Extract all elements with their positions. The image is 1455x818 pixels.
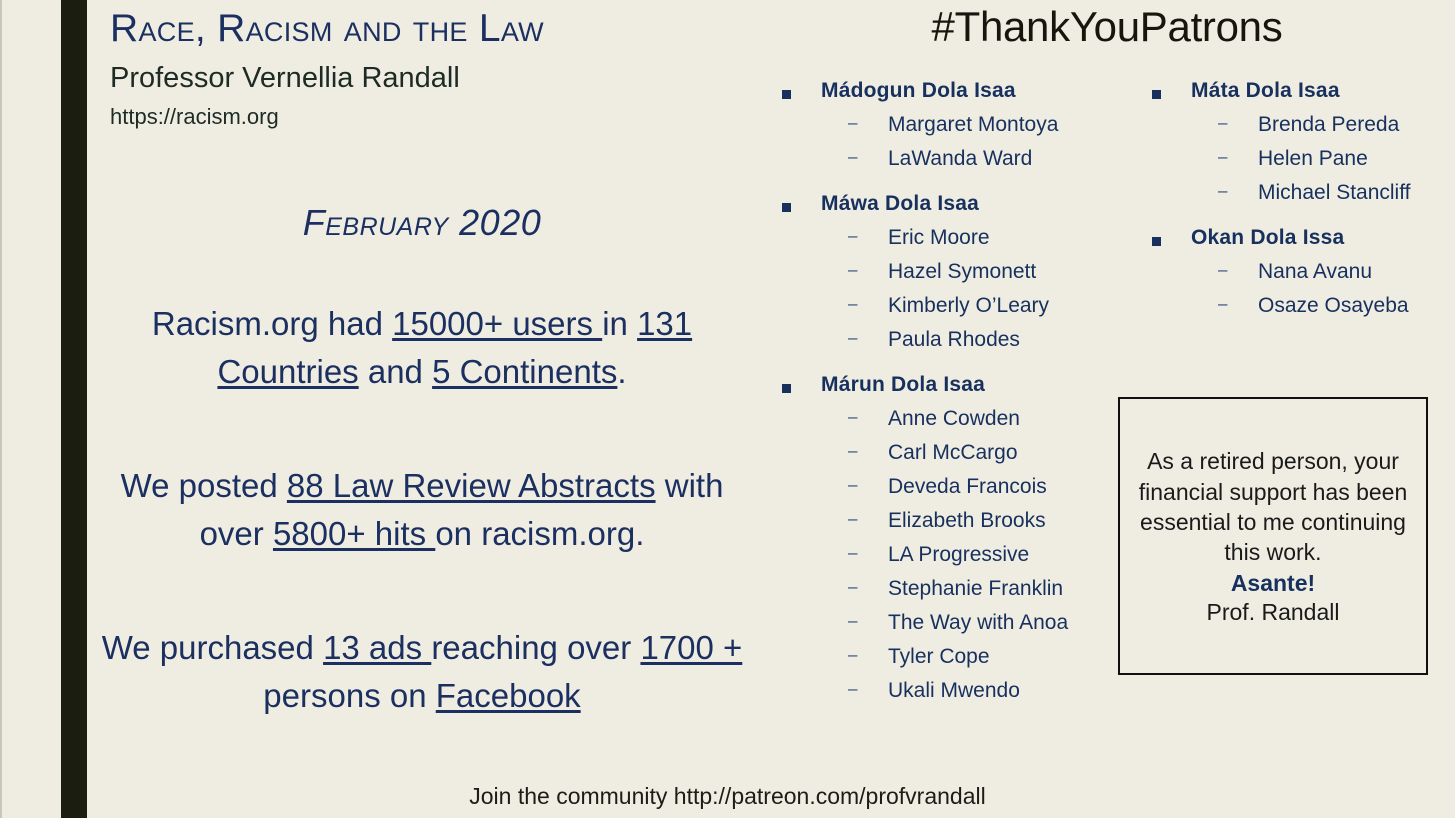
dash-bullet-icon: –: [848, 544, 860, 563]
stat-text: and: [359, 353, 432, 390]
patron-list-item: –Nana Avanu: [1152, 261, 1452, 282]
patron-list-item: –Tyler Cope: [782, 646, 1142, 667]
dash-bullet-icon: –: [1218, 261, 1230, 280]
stat-text: .org.: [578, 515, 644, 552]
patron-tier-heading: Okan Dola Issa: [1152, 227, 1452, 248]
patron-name: Carl McCargo: [888, 442, 1018, 463]
left-content-column: Race, Racism and the Law Professor Verne…: [87, 0, 777, 818]
patron-column-left: Mádogun Dola Isaa–Margaret Montoya–LaWan…: [782, 80, 1142, 725]
site-url: https://racism.org: [110, 104, 279, 130]
patron-name: Michael Stancliff: [1258, 182, 1411, 203]
patron-name: LA Progressive: [888, 544, 1029, 565]
left-edge-rule: [0, 0, 2, 818]
tier-spacer: [782, 350, 1142, 368]
stat-text: in: [602, 305, 637, 342]
stat-highlight: 15000+ users: [392, 305, 602, 342]
patron-name: The Way with Anoa: [888, 612, 1068, 633]
patron-list-item: –Stephanie Franklin: [782, 578, 1142, 599]
dash-bullet-icon: –: [848, 148, 860, 167]
patron-name: Elizabeth Brooks: [888, 510, 1046, 531]
dash-bullet-icon: –: [848, 646, 860, 665]
patron-list-item: –Carl McCargo: [782, 442, 1142, 463]
patron-name: Stephanie Franklin: [888, 578, 1063, 599]
left-accent-bar: [61, 0, 87, 818]
stat-highlight: 5800+ hits: [273, 515, 435, 552]
stat-text: persons on: [263, 677, 435, 714]
stat-text: Racism.org had: [152, 305, 392, 342]
patron-tier-heading: Márun Dola Isaa: [782, 374, 1142, 395]
patron-list-item: –The Way with Anoa: [782, 612, 1142, 633]
patron-list-item: –Ukali Mwendo: [782, 680, 1142, 701]
patron-tier-heading: Máwa Dola Isaa: [782, 193, 1142, 214]
patron-tier-label: Máwa Dola Isaa: [821, 193, 979, 214]
dash-bullet-icon: –: [848, 680, 860, 699]
patron-tier-heading: Máta Dola Isaa: [1152, 80, 1452, 101]
stat-text: on racism: [435, 515, 578, 552]
patron-list-item: –Elizabeth Brooks: [782, 510, 1142, 531]
slide-canvas: Race, Racism and the Law Professor Verne…: [0, 0, 1455, 818]
tier-spacer: [782, 701, 1142, 719]
dash-bullet-icon: –: [848, 612, 860, 631]
tier-spacer: [1152, 316, 1452, 334]
testimonial-signature: Prof. Randall: [1207, 599, 1340, 626]
ads-stat: We purchased 13 ads reaching over 1700 +…: [87, 624, 757, 720]
dash-bullet-icon: –: [848, 114, 860, 133]
patron-tier-group: Máwa Dola Isaa–Eric Moore–Hazel Symonett…: [782, 193, 1142, 368]
dash-bullet-icon: –: [848, 329, 860, 348]
patron-list-item: –Margaret Montoya: [782, 114, 1142, 135]
dash-bullet-icon: –: [1218, 114, 1230, 133]
page-title: Race, Racism and the Law: [110, 9, 544, 50]
dash-bullet-icon: –: [848, 510, 860, 529]
dash-bullet-icon: –: [848, 261, 860, 280]
patron-list-item: –Deveda Francois: [782, 476, 1142, 497]
patron-column-right: Máta Dola Isaa–Brenda Pereda–Helen Pane–…: [1152, 80, 1452, 340]
patron-tier-heading: Mádogun Dola Isaa: [782, 80, 1142, 101]
square-bullet-icon: [1152, 237, 1161, 246]
patron-tier-label: Máta Dola Isaa: [1191, 80, 1340, 101]
patron-list-item: –Brenda Pereda: [1152, 114, 1452, 135]
patron-list-item: –Helen Pane: [1152, 148, 1452, 169]
square-bullet-icon: [782, 90, 791, 99]
dash-bullet-icon: –: [1218, 182, 1230, 201]
patron-tier-group: Márun Dola Isaa–Anne Cowden–Carl McCargo…: [782, 374, 1142, 719]
stat-highlight: Facebook: [436, 677, 581, 714]
dash-bullet-icon: –: [1218, 148, 1230, 167]
stat-highlight: 13 ads: [323, 629, 431, 666]
square-bullet-icon: [782, 384, 791, 393]
patron-name: Deveda Francois: [888, 476, 1047, 497]
patron-list-item: –LA Progressive: [782, 544, 1142, 565]
patron-name: Tyler Cope: [888, 646, 990, 667]
patron-list-item: –Anne Cowden: [782, 408, 1142, 429]
patron-name: Margaret Montoya: [888, 114, 1058, 135]
tier-spacer: [782, 169, 1142, 187]
testimonial-text: As a retired person, your financial supp…: [1134, 446, 1412, 567]
footer-cta: Join the community http://patreon.com/pr…: [0, 783, 1455, 810]
patron-tier-label: Okan Dola Issa: [1191, 227, 1344, 248]
dash-bullet-icon: –: [848, 442, 860, 461]
patrons-hashtag: #ThankYouPatrons: [777, 3, 1437, 51]
author-name: Professor Vernellia Randall: [110, 62, 460, 95]
stat-highlight: 88 Law Review Abstracts: [287, 467, 656, 504]
stat-text: We posted: [121, 467, 287, 504]
patron-name: Osaze Osayeba: [1258, 295, 1409, 316]
patron-name: Ukali Mwendo: [888, 680, 1020, 701]
patron-list-item: –Michael Stancliff: [1152, 182, 1452, 203]
stat-highlight: 1700 +: [640, 629, 742, 666]
tier-spacer: [1152, 203, 1452, 221]
patron-tier-label: Mádogun Dola Isaa: [821, 80, 1016, 101]
patron-name: LaWanda Ward: [888, 148, 1032, 169]
patron-name: Brenda Pereda: [1258, 114, 1399, 135]
patron-list-item: –Osaze Osayeba: [1152, 295, 1452, 316]
patron-tier-group: Máta Dola Isaa–Brenda Pereda–Helen Pane–…: [1152, 80, 1452, 221]
testimonial-asante: Asante!: [1231, 570, 1315, 597]
patron-list-item: –Eric Moore: [782, 227, 1142, 248]
square-bullet-icon: [1152, 90, 1161, 99]
patron-name: Anne Cowden: [888, 408, 1020, 429]
dash-bullet-icon: –: [848, 476, 860, 495]
patron-tier-label: Márun Dola Isaa: [821, 374, 985, 395]
report-date: February 2020: [87, 202, 757, 244]
patron-list-item: –Kimberly O’Leary: [782, 295, 1142, 316]
patron-list-item: –Paula Rhodes: [782, 329, 1142, 350]
patron-name: Nana Avanu: [1258, 261, 1372, 282]
patron-tier-group: Okan Dola Issa–Nana Avanu–Osaze Osayeba: [1152, 227, 1452, 334]
stat-text: .: [617, 353, 626, 390]
dash-bullet-icon: –: [848, 295, 860, 314]
dash-bullet-icon: –: [1218, 295, 1230, 314]
patron-name: Helen Pane: [1258, 148, 1368, 169]
testimonial-box: As a retired person, your financial supp…: [1118, 397, 1428, 675]
patron-name: Kimberly O’Leary: [888, 295, 1049, 316]
stat-text: reaching over: [431, 629, 640, 666]
dash-bullet-icon: –: [848, 578, 860, 597]
patron-list-item: –LaWanda Ward: [782, 148, 1142, 169]
abstracts-stat: We posted 88 Law Review Abstracts with o…: [87, 462, 757, 558]
dash-bullet-icon: –: [848, 408, 860, 427]
patron-name: Eric Moore: [888, 227, 990, 248]
dash-bullet-icon: –: [848, 227, 860, 246]
patron-name: Hazel Symonett: [888, 261, 1036, 282]
patron-list-item: –Hazel Symonett: [782, 261, 1142, 282]
stat-highlight: 5 Continents: [432, 353, 617, 390]
square-bullet-icon: [782, 203, 791, 212]
stat-text: We purchased: [102, 629, 323, 666]
patron-tier-group: Mádogun Dola Isaa–Margaret Montoya–LaWan…: [782, 80, 1142, 187]
users-stat: Racism.org had 15000+ users in 131 Count…: [87, 300, 757, 396]
patron-name: Paula Rhodes: [888, 329, 1020, 350]
